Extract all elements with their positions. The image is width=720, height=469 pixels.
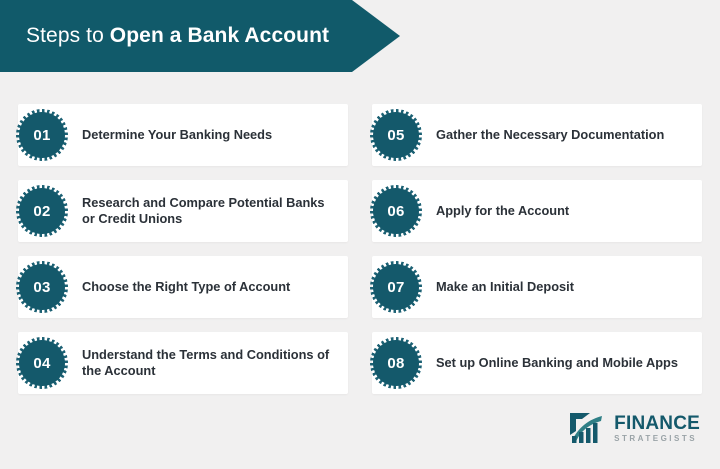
logo-subtitle: STRATEGISTS [614, 435, 700, 443]
step-number-badge: 08 [370, 337, 422, 389]
finance-strategists-mark-icon [568, 411, 608, 445]
step-label: Determine Your Banking Needs [82, 127, 272, 143]
step-number: 03 [33, 279, 50, 296]
brand-logo: FINANCE STRATEGISTS [568, 411, 700, 445]
step-number-badge: 03 [16, 261, 68, 313]
steps-grid: 01 Determine Your Banking Needs 05 Gathe… [18, 104, 702, 394]
step-card: 06 Apply for the Account [372, 180, 702, 242]
logo-text: FINANCE STRATEGISTS [614, 414, 700, 443]
step-number-badge: 04 [16, 337, 68, 389]
step-card: 01 Determine Your Banking Needs [18, 104, 348, 166]
header-banner: Steps to Open a Bank Account [0, 0, 400, 72]
step-number-badge: 02 [16, 185, 68, 237]
step-label: Make an Initial Deposit [436, 279, 574, 295]
step-label: Choose the Right Type of Account [82, 279, 290, 295]
step-label: Understand the Terms and Conditions of t… [82, 347, 337, 379]
step-card: 03 Choose the Right Type of Account [18, 256, 348, 318]
step-card: 07 Make an Initial Deposit [372, 256, 702, 318]
step-card: 08 Set up Online Banking and Mobile Apps [372, 332, 702, 394]
step-label: Gather the Necessary Documentation [436, 127, 664, 143]
step-number: 02 [33, 203, 50, 220]
step-number: 07 [387, 279, 404, 296]
page-title: Steps to Open a Bank Account [0, 24, 329, 48]
step-number-badge: 05 [370, 109, 422, 161]
page-title-emphasis: Open a Bank Account [110, 24, 329, 47]
step-label: Apply for the Account [436, 203, 569, 219]
page-title-lead: Steps to [26, 24, 110, 47]
step-number: 08 [387, 355, 404, 372]
step-number-badge: 07 [370, 261, 422, 313]
step-number-badge: 01 [16, 109, 68, 161]
step-number: 06 [387, 203, 404, 220]
step-number: 04 [33, 355, 50, 372]
step-label: Research and Compare Potential Banks or … [82, 195, 337, 227]
step-number-badge: 06 [370, 185, 422, 237]
step-card: 04 Understand the Terms and Conditions o… [18, 332, 348, 394]
step-number: 05 [387, 127, 404, 144]
logo-name: FINANCE [614, 414, 700, 433]
step-number: 01 [33, 127, 50, 144]
step-label: Set up Online Banking and Mobile Apps [436, 355, 678, 371]
step-card: 02 Research and Compare Potential Banks … [18, 180, 348, 242]
step-card: 05 Gather the Necessary Documentation [372, 104, 702, 166]
